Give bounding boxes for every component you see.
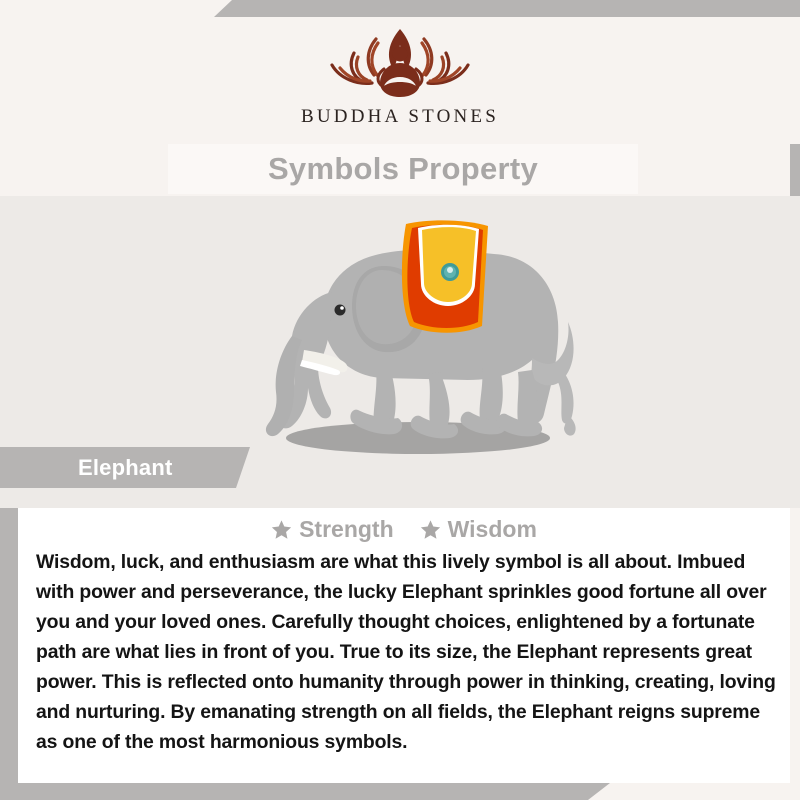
trait-label-strength: Strength — [299, 516, 394, 543]
trait-item-strength: Strength — [271, 516, 394, 543]
decorative-bar-top — [214, 0, 800, 17]
decorative-bar-bottom — [0, 783, 610, 800]
infographic-card: BUDDHA STONES Symbols Property — [0, 0, 800, 800]
trait-item-wisdom: Wisdom — [420, 516, 537, 543]
trait-label-wisdom: Wisdom — [448, 516, 537, 543]
star-icon — [271, 519, 292, 540]
brand-name: BUDDHA STONES — [301, 106, 499, 128]
symbol-name-label: Elephant — [78, 455, 173, 481]
symbol-name-ribbon: Elephant — [0, 447, 250, 488]
title-banner: Symbols Property — [168, 144, 638, 194]
walking-elephant-illustration — [232, 210, 582, 470]
star-icon — [420, 519, 441, 540]
description-panel: Strength Wisdom Wisdom, luck, and enthus… — [18, 508, 790, 783]
page-title: Symbols Property — [268, 151, 538, 187]
brand-header: BUDDHA STONES — [0, 17, 800, 144]
trait-list: Strength Wisdom — [18, 508, 790, 543]
symbol-description: Wisdom, luck, and enthusiasm are what th… — [36, 547, 776, 757]
lotus-meditation-icon — [314, 21, 486, 105]
